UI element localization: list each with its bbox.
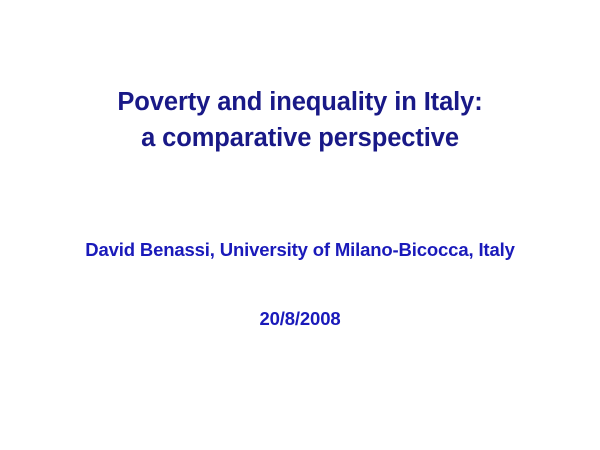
slide-title: Poverty and inequality in Italy: a compa…: [0, 84, 600, 156]
title-line-1: Poverty and inequality in Italy:: [0, 84, 600, 120]
presentation-title-slide: Poverty and inequality in Italy: a compa…: [0, 0, 600, 450]
presentation-date: 20/8/2008: [0, 307, 600, 331]
author-affiliation: David Benassi, University of Milano-Bico…: [0, 238, 600, 262]
title-line-2: a comparative perspective: [0, 120, 600, 156]
